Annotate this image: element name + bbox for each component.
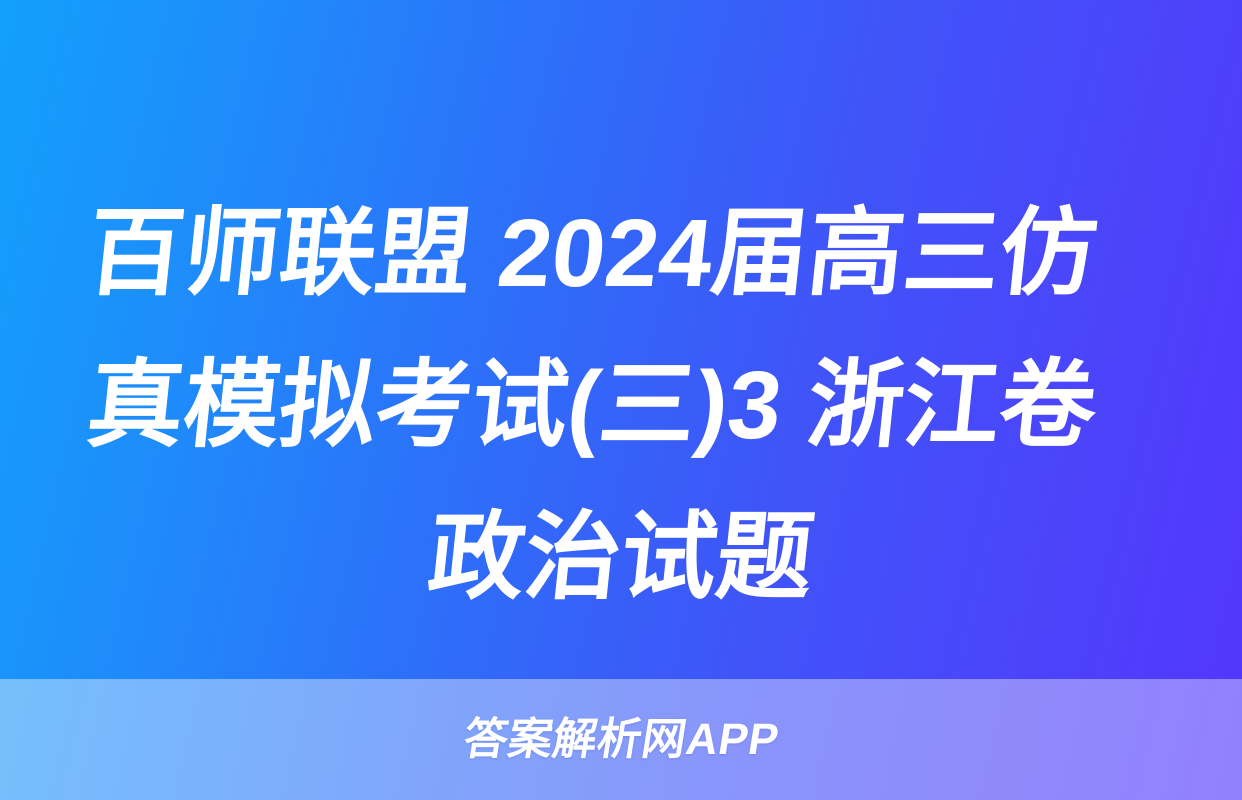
footer-band: 答案解析网APP xyxy=(0,679,1242,800)
title-line-2: 真模拟考试(三)3 浙江卷 xyxy=(0,330,1242,482)
title-block: 百师联盟 2024届高三仿 真模拟考试(三)3 浙江卷 政治试题 xyxy=(0,178,1242,634)
title-line-3: 政治试题 xyxy=(0,482,1242,634)
title-line-1: 百师联盟 2024届高三仿 xyxy=(0,178,1242,330)
app-watermark: 答案解析网APP xyxy=(460,718,781,762)
poster-canvas: 百师联盟 2024届高三仿 真模拟考试(三)3 浙江卷 政治试题 答案解析网AP… xyxy=(0,0,1242,800)
